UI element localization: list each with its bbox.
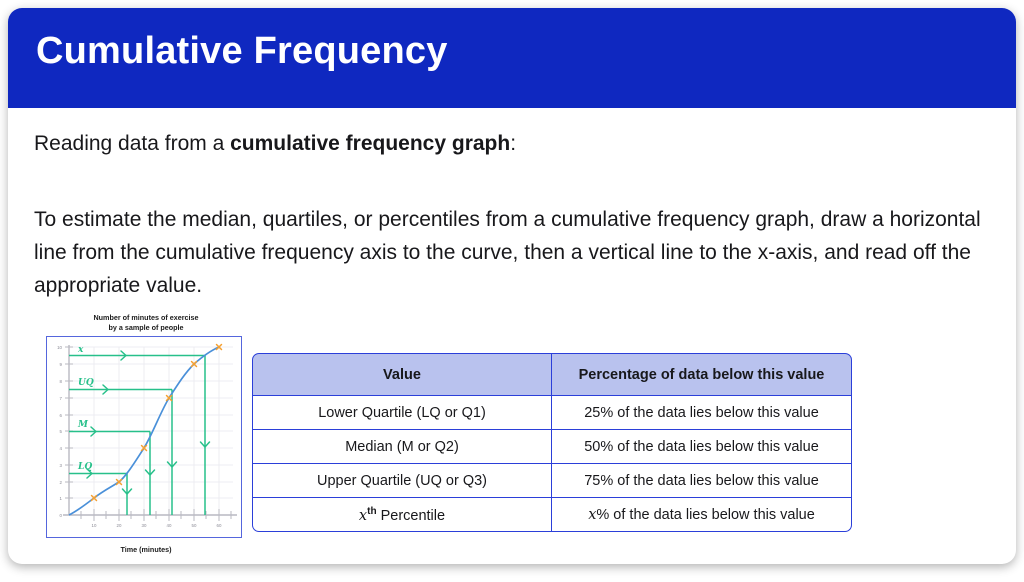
- cell-percent-lq: 25% of the data lies below this value: [552, 396, 852, 430]
- cell-value-lq: Lower Quartile (LQ or Q1): [252, 396, 552, 430]
- svg-text:20: 20: [117, 523, 122, 528]
- svg-text:3: 3: [60, 463, 63, 468]
- table-row: Lower Quartile (LQ or Q1) 25% of the dat…: [252, 396, 852, 430]
- svg-text:LQ: LQ: [77, 462, 92, 472]
- chart-title: Number of minutes of exercise by a sampl…: [56, 313, 236, 333]
- cell-value-median: Median (M or Q2): [252, 430, 552, 464]
- chart-title-line2: by a sample of people: [56, 323, 236, 333]
- cumulative-frequency-chart: Number of minutes of exercise by a sampl…: [34, 313, 246, 561]
- explanation-paragraph: To estimate the median, quartiles, or pe…: [34, 203, 996, 302]
- svg-text:7: 7: [60, 396, 63, 401]
- lead-prefix: Reading data from a: [34, 132, 230, 155]
- table-row: xth Percentile x% of the data lies below…: [252, 498, 852, 532]
- percent-label-rest: % of the data lies below this value: [596, 507, 814, 523]
- chart-plot-box: 10 9 8 7 6 5 4 3 2 1 0 10: [46, 336, 242, 538]
- table-header-value: Value: [252, 353, 552, 396]
- svg-text:6: 6: [60, 413, 63, 418]
- table-header-percentage: Percentage of data below this value: [552, 353, 852, 396]
- values-table: Value Percentage of data below this valu…: [252, 353, 852, 532]
- table-header-row: Value Percentage of data below this valu…: [252, 353, 852, 396]
- table-row: Median (M or Q2) 50% of the data lies be…: [252, 430, 852, 464]
- svg-text:40: 40: [167, 523, 172, 528]
- svg-text:UQ: UQ: [78, 378, 94, 388]
- cell-value-uq: Upper Quartile (UQ or Q3): [252, 464, 552, 498]
- page-title: Cumulative Frequency: [36, 30, 448, 73]
- svg-text:5: 5: [60, 429, 63, 434]
- svg-text:30: 30: [142, 523, 147, 528]
- chart-reading-arrows: [87, 351, 210, 494]
- svg-text:9: 9: [60, 362, 63, 367]
- svg-text:x: x: [77, 345, 84, 355]
- cell-percent-percentile: x% of the data lies below this value: [552, 498, 852, 532]
- svg-text:2: 2: [60, 480, 63, 485]
- svg-text:M: M: [77, 420, 89, 430]
- table-row: Upper Quartile (UQ or Q3) 75% of the dat…: [252, 464, 852, 498]
- lead-suffix: :: [510, 132, 516, 155]
- percentile-x-symbol: x: [359, 507, 367, 523]
- cell-percent-median: 50% of the data lies below this value: [552, 430, 852, 464]
- chart-svg: 10 9 8 7 6 5 4 3 2 1 0 10: [47, 337, 240, 536]
- header-bar: Cumulative Frequency: [8, 8, 1016, 108]
- percentile-th-suffix: th: [367, 506, 376, 517]
- content-area: Reading data from a cumulative frequency…: [8, 108, 1016, 564]
- svg-text:50: 50: [192, 523, 197, 528]
- cell-percent-uq: 75% of the data lies below this value: [552, 464, 852, 498]
- svg-text:10: 10: [92, 523, 97, 528]
- cell-value-percentile: xth Percentile: [252, 498, 552, 532]
- slide-card: Cumulative Frequency Reading data from a…: [8, 8, 1016, 564]
- chart-x-ticklabels: 10 20 30 40 50 60: [92, 523, 222, 528]
- svg-text:8: 8: [60, 379, 63, 384]
- chart-y-ticklabels: 10 9 8 7 6 5 4 3 2 1 0: [57, 345, 62, 518]
- percentile-label-rest: Percentile: [377, 507, 446, 523]
- svg-text:0: 0: [60, 513, 63, 518]
- chart-x-axis-label: Time (minutes): [56, 545, 236, 554]
- svg-text:4: 4: [60, 446, 63, 451]
- svg-text:60: 60: [217, 523, 222, 528]
- svg-text:10: 10: [57, 345, 62, 350]
- chart-title-line1: Number of minutes of exercise: [56, 313, 236, 323]
- lead-sentence: Reading data from a cumulative frequency…: [34, 132, 516, 156]
- svg-text:1: 1: [60, 496, 63, 501]
- lead-bold: cumulative frequency graph: [230, 132, 510, 155]
